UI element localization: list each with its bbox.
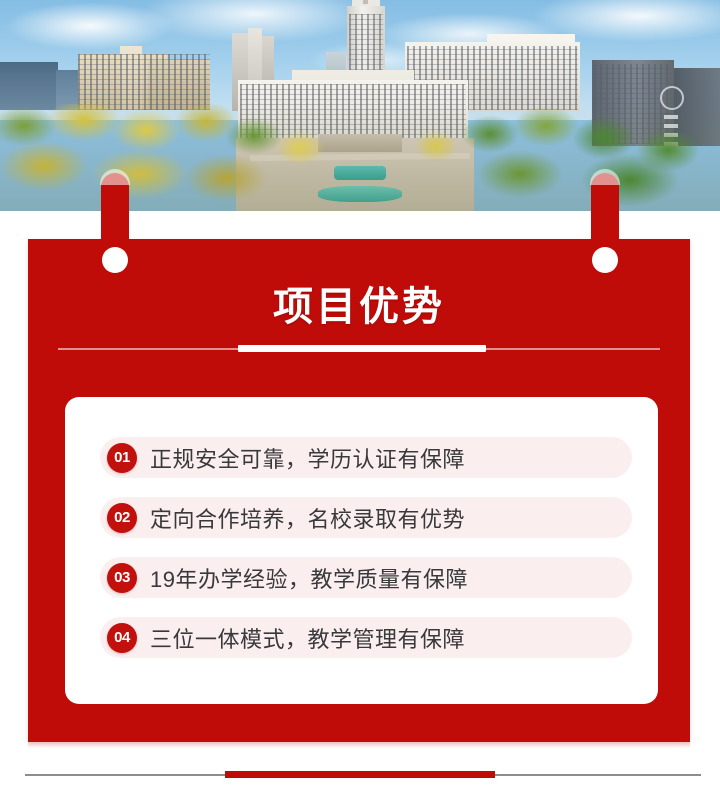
panel-drop-shadow — [28, 742, 690, 748]
list-item[interactable]: 01 正规安全可靠，学历认证有保障 — [100, 437, 632, 478]
list-item[interactable]: 04 三位一体模式，教学管理有保障 — [100, 617, 632, 658]
list-item[interactable]: 03 19年办学经验，教学质量有保障 — [100, 557, 632, 598]
list-item[interactable]: 02 定向合作培养，名校录取有优势 — [100, 497, 632, 538]
advantages-card: 01 正规安全可靠，学历认证有保障 02 定向合作培养，名校录取有优势 03 1… — [65, 397, 658, 704]
item-label: 定向合作培养，名校录取有优势 — [150, 502, 465, 534]
title-divider-accent — [238, 345, 486, 352]
item-number-badge: 03 — [107, 563, 137, 593]
item-label: 19年办学经验，教学质量有保障 — [150, 562, 468, 594]
item-label: 正规安全可靠，学历认证有保障 — [150, 442, 465, 474]
item-label: 三位一体模式，教学管理有保障 — [150, 622, 465, 654]
advantages-panel: 项目优势 01 正规安全可靠，学历认证有保障 02 定向合作培养，名校录取有优势… — [28, 239, 690, 742]
section-progress-fill[interactable] — [225, 771, 495, 778]
item-number-badge: 02 — [107, 503, 137, 533]
strap-hole-icon — [102, 247, 128, 273]
page-title: 项目优势 — [28, 287, 690, 327]
strap-hole-icon — [592, 247, 618, 273]
hanging-strap-right — [591, 173, 619, 272]
item-number-badge: 01 — [107, 443, 137, 473]
hanging-strap-left — [101, 173, 129, 272]
page-root: 项目优势 01 正规安全可靠，学历认证有保障 02 定向合作培养，名校录取有优势… — [0, 0, 720, 790]
advantages-list: 01 正规安全可靠，学历认证有保障 02 定向合作培养，名校录取有优势 03 1… — [100, 437, 632, 658]
item-number-badge: 04 — [107, 623, 137, 653]
